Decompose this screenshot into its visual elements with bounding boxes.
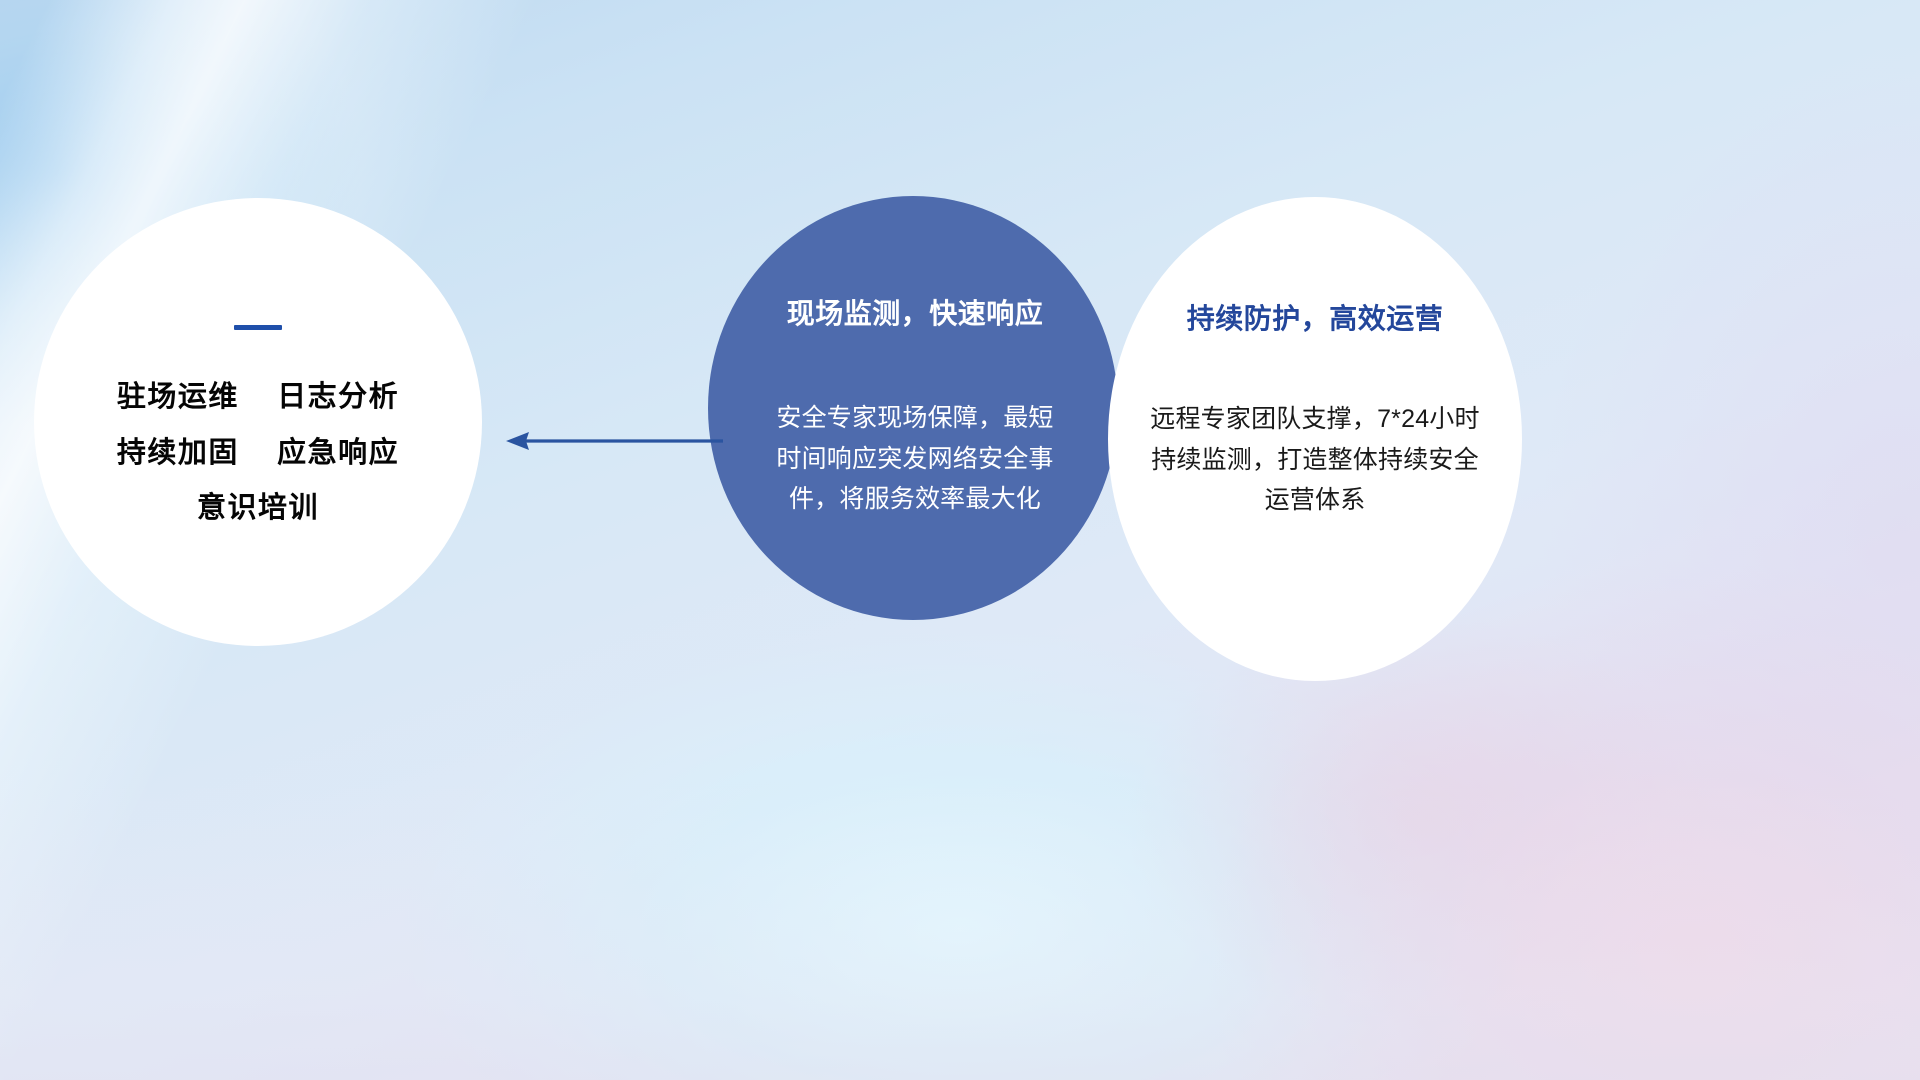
right-circle-title: 持续防护，高效运营 (1187, 297, 1444, 337)
flow-arrow (495, 424, 725, 458)
left-capability-circle[interactable]: 驻场运维 日志分析 持续加固 应急响应 意识培训 (34, 198, 482, 646)
left-keyword-row-3: 意识培训 (197, 493, 319, 525)
right-circle-body: 远程专家团队支撑，7*24小时持续监测，打造整体持续安全运营体系 (1146, 399, 1484, 521)
arrow-head-icon (506, 432, 529, 450)
left-keyword-row-1: 驻场运维 日志分析 (117, 382, 399, 414)
divider-dash-icon (234, 325, 282, 330)
right-circle-content: 持续防护，高效运营 远程专家团队支撑，7*24小时持续监测，打造整体持续安全运营… (1108, 197, 1522, 681)
left-keyword-list: 驻场运维 日志分析 持续加固 应急响应 意识培训 (117, 382, 399, 526)
middle-circle-body: 安全专家现场保障，最短时间响应突发网络安全事件，将服务效率最大化 (765, 398, 1065, 520)
onsite-monitoring-circle[interactable]: 现场监测，快速响应 安全专家现场保障，最短时间响应突发网络安全事件，将服务效率最… (708, 196, 1118, 620)
middle-circle-content: 现场监测，快速响应 安全专家现场保障，最短时间响应突发网络安全事件，将服务效率最… (708, 196, 1118, 620)
continuous-protection-circle[interactable]: 持续防护，高效运营 远程专家团队支撑，7*24小时持续监测，打造整体持续安全运营… (1108, 197, 1522, 681)
slide-canvas: 驻场运维 日志分析 持续加固 应急响应 意识培训 现场监测，快速响应 安全专家现… (0, 0, 1920, 1080)
left-keyword-row-2: 持续加固 应急响应 (117, 438, 399, 470)
left-circle-content: 驻场运维 日志分析 持续加固 应急响应 意识培训 (34, 198, 482, 646)
middle-circle-title: 现场监测，快速响应 (787, 292, 1044, 332)
